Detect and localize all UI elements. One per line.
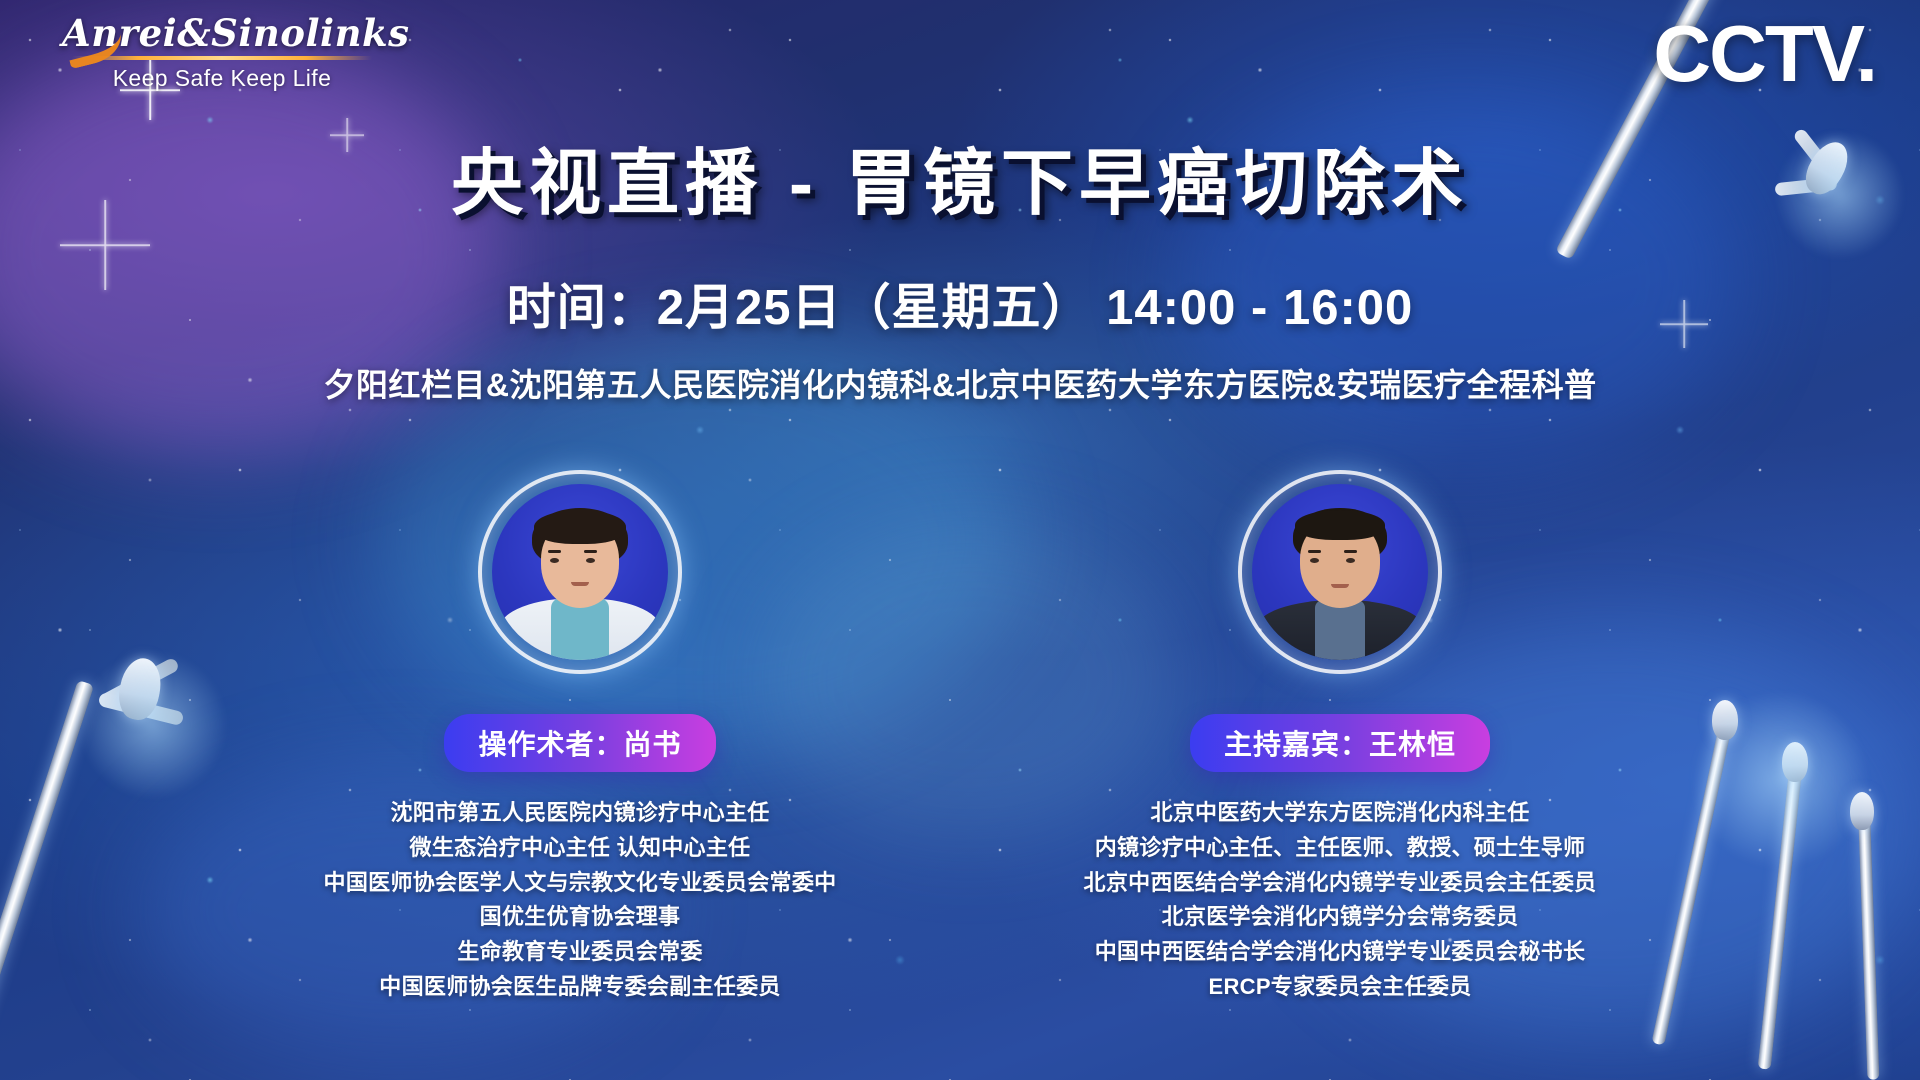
- credential-line: 中国医师协会医学人文与宗教文化专业委员会常委中: [324, 866, 837, 901]
- speaker-badge: 主持嘉宾：王林恒: [1190, 714, 1490, 772]
- avatar: [478, 470, 682, 674]
- avatar: [1238, 470, 1442, 674]
- credential-line: 生命教育专业委员会常委: [324, 935, 837, 970]
- page-title: 央视直播 - 胃镜下早癌切除术: [0, 124, 1920, 229]
- credential-line: 内镜诊疗中心主任、主任医师、教授、硕士生导师: [1084, 831, 1597, 866]
- credential-line: ERCP专家委员会主任委员: [1084, 970, 1597, 1005]
- brand-logo: Anrei&Sinolinks Keep Safe Keep Life: [62, 14, 382, 92]
- poster-canvas: Anrei&Sinolinks Keep Safe Keep Life CCTV…: [0, 0, 1920, 1080]
- speaker-card-operator: 操作术者：尚书 沈阳市第五人民医院内镜诊疗中心主任 微生态治疗中心主任 认知中心…: [200, 470, 960, 1005]
- credential-line: 北京医学会消化内镜学分会常务委员: [1084, 900, 1597, 935]
- credential-line: 北京中医药大学东方医院消化内科主任: [1084, 796, 1597, 831]
- speaker-credentials: 沈阳市第五人民医院内镜诊疗中心主任 微生态治疗中心主任 认知中心主任 中国医师协…: [324, 796, 837, 1005]
- credential-line: 微生态治疗中心主任 认知中心主任: [324, 831, 837, 866]
- credential-line: 中国中西医结合学会消化内镜学专业委员会秘书长: [1084, 935, 1597, 970]
- credential-line: 北京中西医结合学会消化内镜学专业委员会主任委员: [1084, 866, 1597, 901]
- brand-tagline: Keep Safe Keep Life: [62, 65, 382, 92]
- speaker-badge: 操作术者：尚书: [444, 714, 715, 772]
- speakers-row: 操作术者：尚书 沈阳市第五人民医院内镜诊疗中心主任 微生态治疗中心主任 认知中心…: [0, 470, 1920, 1005]
- organizers-line: 夕阳红栏目&沈阳第五人民医院消化内镜科&北京中医药大学东方医院&安瑞医疗全程科普: [0, 360, 1920, 406]
- avatar-photo-shang-shu: [492, 484, 668, 660]
- speaker-card-host: 主持嘉宾：王林恒 北京中医药大学东方医院消化内科主任 内镜诊疗中心主任、主任医师…: [960, 470, 1720, 1005]
- speaker-credentials: 北京中医药大学东方医院消化内科主任 内镜诊疗中心主任、主任医师、教授、硕士生导师…: [1084, 796, 1597, 1005]
- cctv-logo: CCTV.: [1653, 14, 1876, 94]
- avatar-photo-wang-linheng: [1252, 484, 1428, 660]
- brand-divider: [72, 56, 372, 60]
- credential-line: 中国医师协会医生品牌专委会副主任委员: [324, 970, 837, 1005]
- event-time: 时间：2月25日（星期五） 14:00 - 16:00: [0, 268, 1920, 339]
- credential-line: 沈阳市第五人民医院内镜诊疗中心主任: [324, 796, 837, 831]
- credential-line: 国优生优育协会理事: [324, 900, 837, 935]
